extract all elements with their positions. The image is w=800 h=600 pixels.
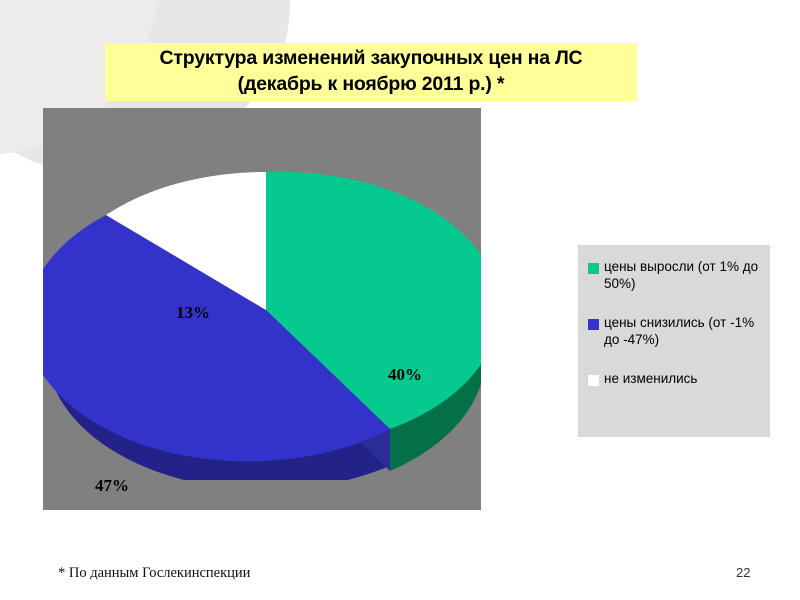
pie-label-blue: 47%: [95, 476, 129, 496]
legend-item-price-decreased[interactable]: цены снизились (от -1% до -47%): [588, 315, 760, 349]
legend-swatch-white-icon: [588, 375, 599, 386]
slide-page-number: 22: [736, 565, 750, 580]
slide-footnote: * По данным Гослекинспекции: [58, 565, 250, 582]
legend-item-unchanged[interactable]: не изменились: [588, 371, 760, 388]
legend-swatch-green-icon: [588, 263, 599, 274]
pie-chart-svg: [43, 140, 481, 480]
pie-label-green: 40%: [388, 365, 422, 385]
pie-chart[interactable]: 40% 47% 13%: [43, 140, 481, 480]
slide-title-box: Структура изменений закупочных цен на ЛС…: [105, 43, 637, 101]
legend-label-unchanged: не изменились: [604, 371, 697, 388]
pie-label-white: 13%: [176, 303, 210, 323]
legend-swatch-blue-icon: [588, 319, 599, 330]
legend-label-price-increased: цены выросли (от 1% до 50%): [604, 259, 760, 293]
chart-legend: цены выросли (от 1% до 50%) цены снизили…: [578, 245, 770, 437]
slide-canvas: Структура изменений закупочных цен на ЛС…: [0, 0, 800, 600]
chart-plot-area[interactable]: 40% 47% 13%: [43, 108, 481, 510]
legend-item-price-increased[interactable]: цены выросли (от 1% до 50%): [588, 259, 760, 293]
slide-title: Структура изменений закупочных цен на ЛС…: [160, 46, 583, 97]
legend-label-price-decreased: цены снизились (от -1% до -47%): [604, 315, 760, 349]
